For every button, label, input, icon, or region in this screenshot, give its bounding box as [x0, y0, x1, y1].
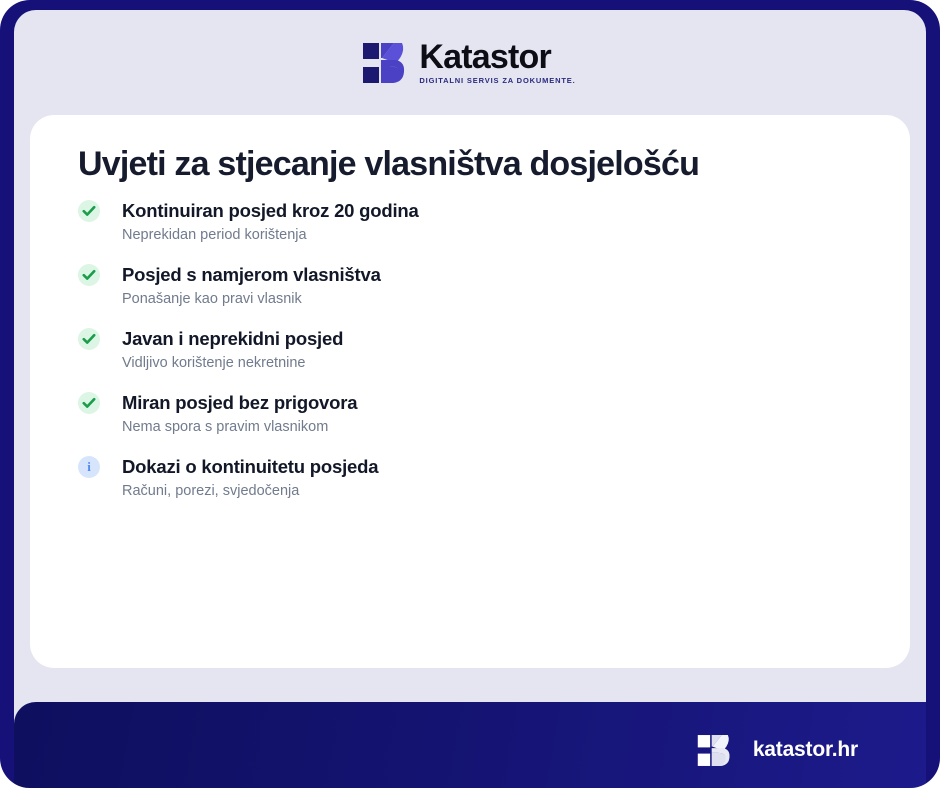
content-card: Uvjeti za stjecanje vlasništva dosjelošć… — [30, 115, 910, 668]
list-item-title: Javan i neprekidni posjed — [122, 327, 866, 350]
list-item: Kontinuiran posjed kroz 20 godina Neprek… — [78, 199, 866, 245]
slide-frame: Katastor DIGITALNI SERVIS ZA DOKUMENTE. … — [0, 0, 940, 788]
footer-domain-label: katastor.hr — [753, 738, 858, 762]
list-item-subtitle: Vidljivo korištenje nekretnine — [122, 354, 866, 373]
footer-brand-lockup: katastor.hr — [697, 734, 858, 767]
list-item-subtitle: Nema spora s pravim vlasnikom — [122, 418, 866, 437]
brand-wordmark: Katastor — [419, 40, 551, 74]
brand-text-block: Katastor DIGITALNI SERVIS ZA DOKUMENTE. — [419, 40, 577, 85]
list-item: i Dokazi o kontinuitetu posjeda Računi, … — [78, 455, 866, 501]
list-item-title: Miran posjed bez prigovora — [122, 391, 866, 414]
brand-tagline: DIGITALNI SERVIS ZA DOKUMENTE. — [419, 77, 577, 85]
check-circle-icon — [78, 264, 100, 286]
slide-canvas: Katastor DIGITALNI SERVIS ZA DOKUMENTE. … — [14, 10, 926, 788]
katastor-k-logo-icon — [697, 734, 731, 767]
info-circle-icon: i — [78, 456, 100, 478]
list-item: Javan i neprekidni posjed Vidljivo koriš… — [78, 327, 866, 373]
brand-logo-lockup: Katastor DIGITALNI SERVIS ZA DOKUMENTE. — [362, 40, 577, 85]
page-title: Uvjeti za stjecanje vlasništva dosjelošć… — [78, 145, 866, 183]
conditions-list: Kontinuiran posjed kroz 20 godina Neprek… — [78, 199, 866, 501]
slide-header: Katastor DIGITALNI SERVIS ZA DOKUMENTE. — [14, 10, 926, 115]
list-item: Posjed s namjerom vlasništva Ponašanje k… — [78, 263, 866, 309]
list-item-subtitle: Računi, porezi, svjedočenja — [122, 482, 866, 501]
list-item-title: Posjed s namjerom vlasništva — [122, 263, 866, 286]
katastor-k-logo-icon — [362, 42, 406, 84]
list-item-title: Dokazi o kontinuitetu posjeda — [122, 455, 866, 478]
slide-footer: katastor.hr — [14, 702, 926, 788]
check-circle-icon — [78, 328, 100, 350]
info-glyph: i — [87, 460, 91, 473]
list-item-title: Kontinuiran posjed kroz 20 godina — [122, 199, 866, 222]
list-item-subtitle: Ponašanje kao pravi vlasnik — [122, 290, 866, 309]
check-circle-icon — [78, 200, 100, 222]
list-item: Miran posjed bez prigovora Nema spora s … — [78, 391, 866, 437]
check-circle-icon — [78, 392, 100, 414]
list-item-subtitle: Neprekidan period korištenja — [122, 226, 866, 245]
